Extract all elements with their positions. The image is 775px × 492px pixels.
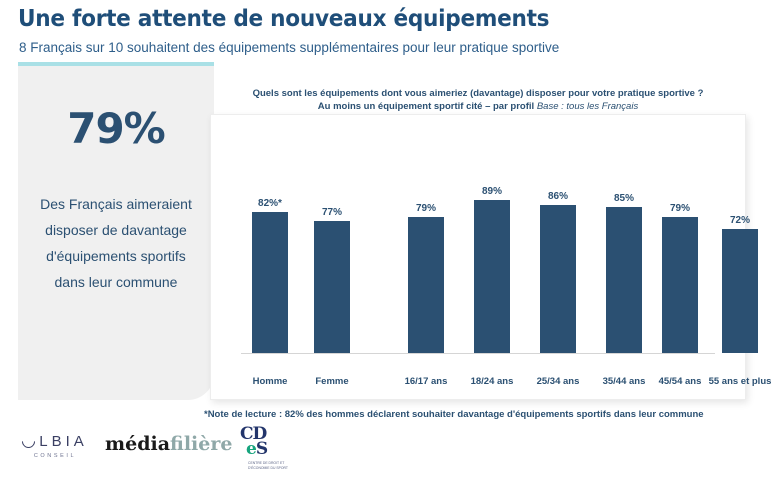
bar-category-label: 55 ans et plus [705, 376, 775, 387]
chart-question-line2: Au moins un équipement sportif cité – pa… [318, 101, 534, 112]
cdes-e-letter: e [246, 439, 256, 459]
bar-rect [722, 229, 758, 353]
bar-rect [540, 205, 576, 353]
footer-logos: LBIA CONSEIL médiafilière CD eS CENTRE D… [0, 425, 775, 492]
bar-item: 72%55 ans et plus [711, 115, 769, 401]
bar-item: 85%35/44 ans [595, 115, 653, 401]
bar-value-label: 79% [651, 203, 709, 214]
bar-rect [252, 212, 288, 353]
bar-value-label: 85% [595, 193, 653, 204]
cdes-subtitle: CENTRE DE DROIT ET D'ÉCONOMIE DU SPORT [248, 461, 300, 470]
bar-value-label: 77% [303, 207, 361, 218]
bar-category-label: 16/17 ans [391, 376, 461, 387]
stat-panel: 79% Des Français aimeraient disposer de … [18, 62, 214, 400]
olbia-name: LBIA [39, 433, 88, 450]
bar-item: 86%25/34 ans [529, 115, 587, 401]
olbia-circle-icon [20, 432, 38, 450]
olbia-wordmark: LBIA [12, 433, 98, 450]
bar-chart: 82%*Homme77%Femme79%16/17 ans89%18/24 an… [211, 115, 747, 401]
infographic-page: Une forte attente de nouveaux équipement… [0, 0, 775, 492]
bar-value-label: 86% [529, 191, 587, 202]
olbia-subtitle: CONSEIL [12, 453, 98, 459]
cdes-es: eS [246, 442, 300, 457]
chart-base-label: Base : tous les Français [537, 101, 638, 112]
bar-category-label: 18/24 ans [457, 376, 527, 387]
bar-rect [408, 217, 444, 353]
chart-question-line1: Quels sont les équipements dont vous aim… [253, 88, 704, 99]
bar-rect [606, 207, 642, 353]
bar-category-label: 25/34 ans [523, 376, 593, 387]
bar-item: 79%16/17 ans [397, 115, 455, 401]
mediafiliere-light: filière [170, 433, 232, 455]
bar-item: 79%45/54 ans [651, 115, 709, 401]
bar-category-label: Femme [297, 376, 367, 387]
logo-olbia: LBIA CONSEIL [12, 433, 98, 459]
chart-card: 82%*Homme77%Femme79%16/17 ans89%18/24 an… [210, 114, 746, 400]
bar-value-label: 82%* [241, 198, 299, 209]
cdes-s-letter: S [256, 439, 267, 459]
bar-rect [314, 221, 350, 353]
bar-item: 77%Femme [303, 115, 361, 401]
bar-category-label: Homme [235, 376, 305, 387]
mediafiliere-dark: média [105, 433, 170, 455]
bar-rect [474, 200, 510, 353]
page-subtitle: 8 Français sur 10 souhaitent des équipem… [19, 40, 559, 55]
chart-footnote: *Note de lecture : 82% des hommes déclar… [204, 409, 704, 420]
bar-value-label: 89% [463, 186, 521, 197]
logo-cdes: CD eS CENTRE DE DROIT ET D'ÉCONOMIE DU S… [240, 427, 300, 470]
bar-series: 82%*Homme77%Femme79%16/17 ans89%18/24 an… [211, 115, 747, 401]
stat-description: Des Français aimeraient disposer de dava… [40, 191, 192, 295]
bar-item: 89%18/24 ans [463, 115, 521, 401]
stat-value: 79% [18, 104, 214, 153]
bar-rect [662, 217, 698, 353]
logo-mediafiliere: médiafilière [105, 433, 232, 455]
page-title: Une forte attente de nouveaux équipement… [18, 6, 549, 32]
chart-question: Quels sont les équipements dont vous aim… [212, 87, 744, 113]
bar-value-label: 72% [711, 215, 769, 226]
bar-value-label: 79% [397, 203, 455, 214]
bar-item: 82%*Homme [241, 115, 299, 401]
